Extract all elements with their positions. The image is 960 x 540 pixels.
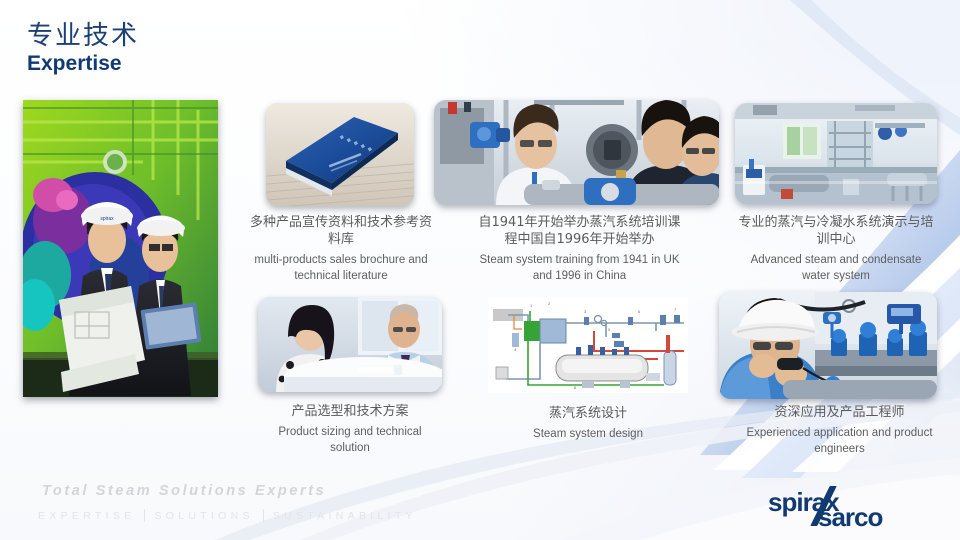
field-engineer-illustration bbox=[719, 292, 937, 399]
caption-training-centre-en: Advanced steam and condensate water syst… bbox=[735, 253, 937, 285]
caption-field-engineers-en: Experienced application and product engi… bbox=[742, 426, 937, 458]
caption-brochure-en: multi-products sales brochure and techni… bbox=[250, 253, 432, 285]
training-centre-illustration bbox=[735, 103, 937, 204]
footer-pillar-expertise: EXPERTISE bbox=[38, 510, 135, 522]
page-title-cn: 专业技术 bbox=[27, 22, 139, 51]
caption-training-centre: 专业的蒸汽与冷凝水系统演示与培训中心 Advanced steam and co… bbox=[735, 214, 937, 285]
field-engineer-photo[interactable] bbox=[719, 292, 937, 399]
caption-field-engineers-cn: 资深应用及产品工程师 bbox=[742, 404, 937, 421]
brochure-photo[interactable] bbox=[266, 103, 414, 206]
caption-brochure: 多种产品宣传资料和技术参考资料库 multi-products sales br… bbox=[250, 214, 432, 285]
footer-tagline: Total Steam Solutions Experts bbox=[42, 483, 326, 499]
caption-training: 自1941年开始举办蒸汽系统培训课程中国自1996年开始举办 Steam sys… bbox=[477, 214, 682, 285]
engineers-blueprint-illustration: spirax bbox=[23, 100, 218, 397]
footer-divider-2 bbox=[263, 509, 264, 522]
caption-steam-design: 蒸汽系统设计 Steam system design bbox=[492, 405, 684, 443]
caption-product-sizing: 产品选型和技术方案 Product sizing and technical s… bbox=[258, 403, 442, 457]
steam-schematic-illustration: 123 456 78 bbox=[488, 297, 688, 393]
slide-expertise: 专业技术 Expertise bbox=[0, 0, 960, 540]
engineers-blueprint-photo[interactable]: spirax bbox=[23, 100, 218, 397]
page-header: 专业技术 Expertise bbox=[27, 22, 139, 76]
product-sizing-photo[interactable] bbox=[258, 297, 442, 392]
caption-training-centre-cn: 专业的蒸汽与冷凝水系统演示与培训中心 bbox=[735, 214, 937, 248]
caption-steam-design-en: Steam system design bbox=[492, 427, 684, 443]
caption-training-en: Steam system training from 1941 in UK an… bbox=[477, 253, 682, 285]
brochure-illustration bbox=[266, 103, 414, 206]
caption-brochure-cn: 多种产品宣传资料和技术参考资料库 bbox=[250, 214, 432, 248]
footer-divider-1 bbox=[144, 509, 145, 522]
caption-product-sizing-en: Product sizing and technical solution bbox=[258, 425, 442, 457]
training-centre-photo[interactable] bbox=[735, 103, 937, 204]
training-photo[interactable] bbox=[434, 100, 719, 205]
caption-product-sizing-cn: 产品选型和技术方案 bbox=[258, 403, 442, 420]
product-sizing-illustration bbox=[258, 297, 442, 392]
footer-pillar-sustainability: SUSTAINABILITY bbox=[273, 510, 417, 522]
footer-pillar-solutions: SOLUTIONS bbox=[154, 510, 253, 522]
caption-training-cn: 自1941年开始举办蒸汽系统培训课程中国自1996年开始举办 bbox=[477, 214, 682, 248]
page-title-en: Expertise bbox=[27, 52, 139, 76]
spirax-sarco-logo: spirax sarco bbox=[768, 488, 938, 532]
steam-schematic-image[interactable]: 123 456 78 bbox=[488, 297, 688, 393]
svg-text:spirax: spirax bbox=[100, 216, 114, 222]
logo-word-sarco: sarco bbox=[818, 502, 882, 533]
caption-steam-design-cn: 蒸汽系统设计 bbox=[492, 405, 684, 422]
caption-field-engineers: 资深应用及产品工程师 Experienced application and p… bbox=[742, 404, 937, 458]
training-illustration bbox=[434, 100, 719, 205]
footer-pillars: EXPERTISE SOLUTIONS SUSTAINABILITY bbox=[38, 509, 417, 522]
